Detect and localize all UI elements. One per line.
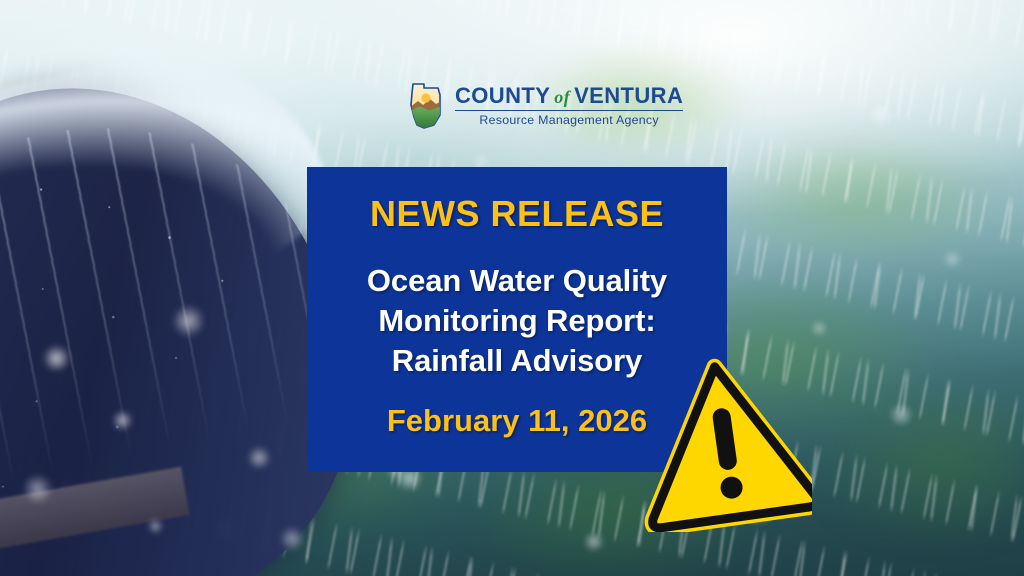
logo-subtitle: Resource Management Agency: [479, 114, 658, 126]
county-of-ventura-logo: COUNTY of VENTURA Resource Management Ag…: [404, 81, 683, 131]
page-title: Ocean Water Quality Monitoring Report: R…: [367, 261, 667, 381]
news-release-eyebrow: NEWS RELEASE: [370, 193, 664, 235]
release-date: February 11, 2026: [387, 403, 647, 439]
news-release-banner: COUNTY of VENTURA Resource Management Ag…: [0, 0, 1024, 576]
warning-triangle-graphic: [640, 356, 812, 532]
logo-wordmark: COUNTY of VENTURA Resource Management Ag…: [455, 85, 683, 126]
warning-triangle-icon: [640, 356, 812, 532]
logo-title: COUNTY of VENTURA: [455, 85, 683, 107]
logo-title-ventura: VENTURA: [574, 85, 683, 107]
page-title-line-2: Monitoring Report:: [367, 301, 667, 341]
page-title-line-3: Rainfall Advisory: [367, 341, 667, 381]
county-landscape-emblem-icon: [404, 81, 448, 131]
page-title-line-1: Ocean Water Quality: [367, 261, 667, 301]
logo-divider: [455, 110, 683, 111]
logo-title-county: COUNTY: [455, 85, 550, 107]
logo-title-of: of: [554, 88, 570, 106]
